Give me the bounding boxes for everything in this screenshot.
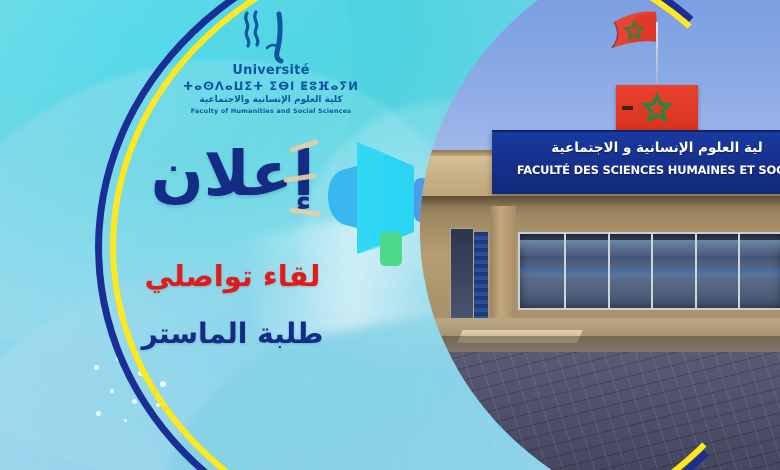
entrance-glass-doors [518, 232, 780, 310]
building-sign-arabic: لية العلوم الإنسانية و الاجتماعية [492, 142, 780, 156]
paved-courtyard [420, 352, 780, 470]
door-mullion-3 [651, 234, 653, 308]
side-doorway [450, 228, 474, 322]
door-mullion-4 [695, 234, 697, 308]
glass-reflection-mid [520, 268, 780, 277]
green-star-icon [640, 93, 674, 131]
photo-cornice-lower [420, 196, 780, 206]
roof-emblem-panel [616, 85, 698, 135]
logo-arabic-faculty-label: كلية العلوم الإنسانية والاجتماعية [176, 95, 366, 106]
entrance-pillar-left [490, 206, 516, 324]
door-mullion-1 [564, 234, 566, 308]
building-sign-french: FACULTÉ DES SCIENCES HUMAINES ET SOCIA [492, 165, 780, 177]
moroccan-flag-icon [604, 8, 670, 62]
bubble-cluster [80, 355, 250, 445]
announcement-poster: Université ⵜⴰⵙⴷⴰⵡⵉⵜ ⵉⴱⵏ ⵟⵓⴼⴰⵢⵍ كلية العل… [0, 0, 780, 470]
logo-tifinagh-label: ⵜⴰⵙⴷⴰⵡⵉⵜ ⵉⴱⵏ ⵟⵓⴼⴰⵢⵍ [176, 80, 366, 93]
panel-nub [622, 106, 633, 110]
university-logo: Université ⵜⴰⵙⴷⴰⵡⵉⵜ ⵉⴱⵏ ⵟⵓⴼⴰⵢⵍ كلية العل… [176, 8, 366, 126]
flag-pole [656, 22, 658, 88]
subtitle-audience: طلبة الماستر [125, 320, 340, 348]
glass-reflection-top [520, 240, 780, 256]
university-calligraphy-emblem-icon [176, 8, 366, 66]
photo-clip: لية العلوم الإنسانية و الاجتماعية FACULT… [420, 0, 780, 470]
subtitle-meeting: لقاء تواصلي [125, 262, 340, 291]
logo-english-faculty-label: Faculty of Humanities and Social Science… [176, 108, 366, 116]
faculty-building-photo: لية العلوم الإنسانية و الاجتماعية FACULT… [420, 0, 780, 470]
door-mullion-5 [738, 234, 740, 308]
door-mullion-2 [608, 234, 610, 308]
mosaic-panel [474, 232, 488, 324]
building-sign: لية العلوم الإنسانية و الاجتماعية FACULT… [492, 130, 780, 194]
megaphone-icon [262, 136, 437, 266]
photo-content: لية العلوم الإنسانية و الاجتماعية FACULT… [420, 0, 780, 470]
